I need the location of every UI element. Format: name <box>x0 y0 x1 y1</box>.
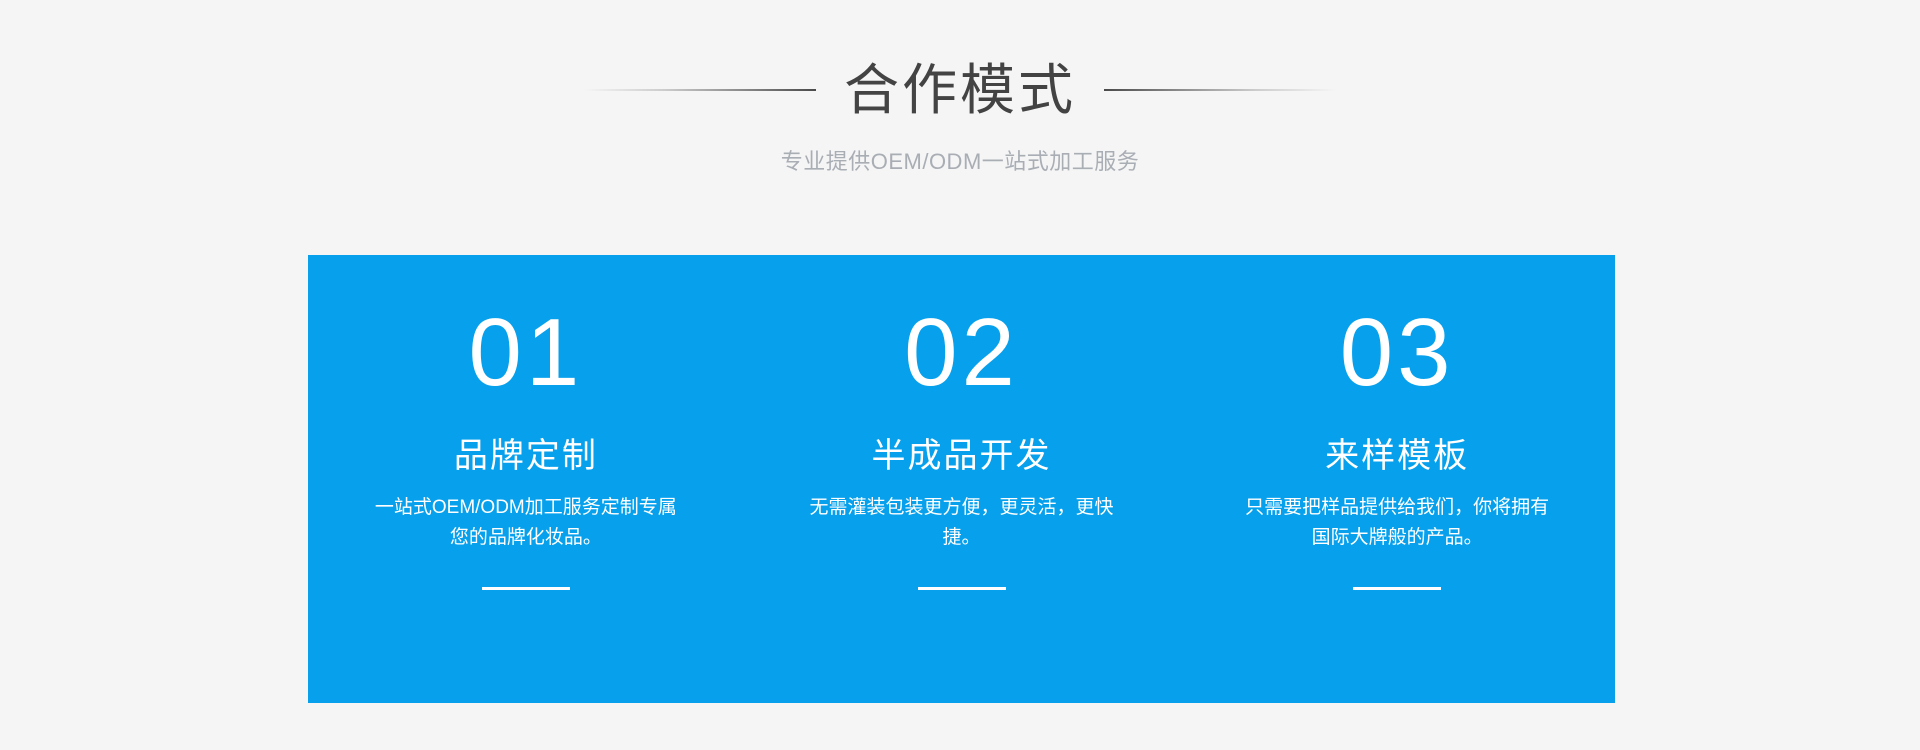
cooperation-card-01[interactable]: 01 品牌定制 一站式OEM/ODM加工服务定制专属您的品牌化妆品。 <box>308 301 744 590</box>
section-subtitle: 专业提供OEM/ODM一站式加工服务 <box>0 144 1920 176</box>
card-underline-decoration <box>1353 587 1441 590</box>
title-rule-left-decoration <box>584 89 816 91</box>
card-number: 01 <box>326 301 726 405</box>
card-heading: 半成品开发 <box>762 435 1162 477</box>
section-header: 合作模式 专业提供OEM/ODM一站式加工服务 <box>0 52 1920 176</box>
card-heading: 品牌定制 <box>326 435 726 477</box>
section-title-row: 合作模式 <box>0 52 1920 128</box>
card-description: 一站式OEM/ODM加工服务定制专属您的品牌化妆品。 <box>366 493 686 553</box>
card-heading: 来样模板 <box>1197 435 1597 477</box>
cooperation-card-list: 01 品牌定制 一站式OEM/ODM加工服务定制专属您的品牌化妆品。 02 半成… <box>308 255 1615 590</box>
cooperation-mode-section: 合作模式 专业提供OEM/ODM一站式加工服务 01 品牌定制 一站式OEM/O… <box>0 0 1920 750</box>
card-description: 只需要把样品提供给我们，你将拥有国际大牌般的产品。 <box>1237 493 1557 553</box>
card-underline-decoration <box>918 587 1006 590</box>
title-rule-right-decoration <box>1104 89 1336 91</box>
card-number: 03 <box>1197 301 1597 405</box>
cooperation-card-03[interactable]: 03 来样模板 只需要把样品提供给我们，你将拥有国际大牌般的产品。 <box>1179 301 1615 590</box>
cooperation-card-02[interactable]: 02 半成品开发 无需灌装包装更方便，更灵活，更快捷。 <box>744 301 1180 590</box>
card-underline-decoration <box>482 587 570 590</box>
card-description: 无需灌装包装更方便，更灵活，更快捷。 <box>802 493 1122 553</box>
cooperation-panel: 01 品牌定制 一站式OEM/ODM加工服务定制专属您的品牌化妆品。 02 半成… <box>308 255 1615 703</box>
card-number: 02 <box>762 301 1162 405</box>
page-title: 合作模式 <box>844 52 1076 128</box>
